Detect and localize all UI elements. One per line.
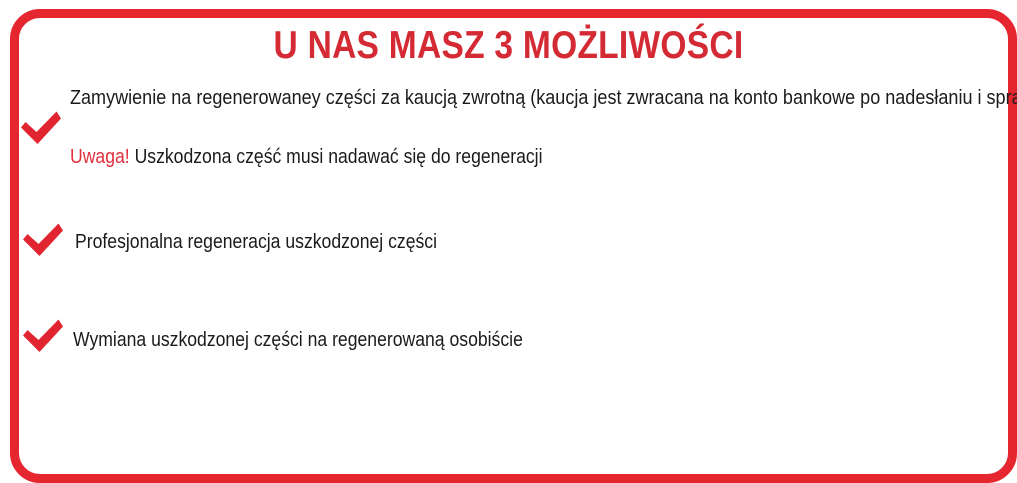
option-2-text: Profesjonalna regeneracja uszkodzonej cz…: [75, 230, 437, 254]
option-3-text: Wymiana uszkodzonej części na regenerowa…: [73, 328, 523, 352]
promo-card: U NAS MASZ 3 MOŻLIWOŚCI Zamywienie na re…: [0, 0, 1017, 483]
page-title: U NAS MASZ 3 MOŻLIWOŚCI: [71, 24, 946, 68]
option-1-note: Uwaga! Uszkodzona część musi nadawać się…: [70, 145, 543, 169]
option-1-text: Zamywienie na regenerowaney części za ka…: [70, 86, 1017, 110]
warning-label: Uwaga!: [70, 146, 130, 168]
warning-text: Uszkodzona część musi nadawać się do reg…: [130, 146, 543, 168]
